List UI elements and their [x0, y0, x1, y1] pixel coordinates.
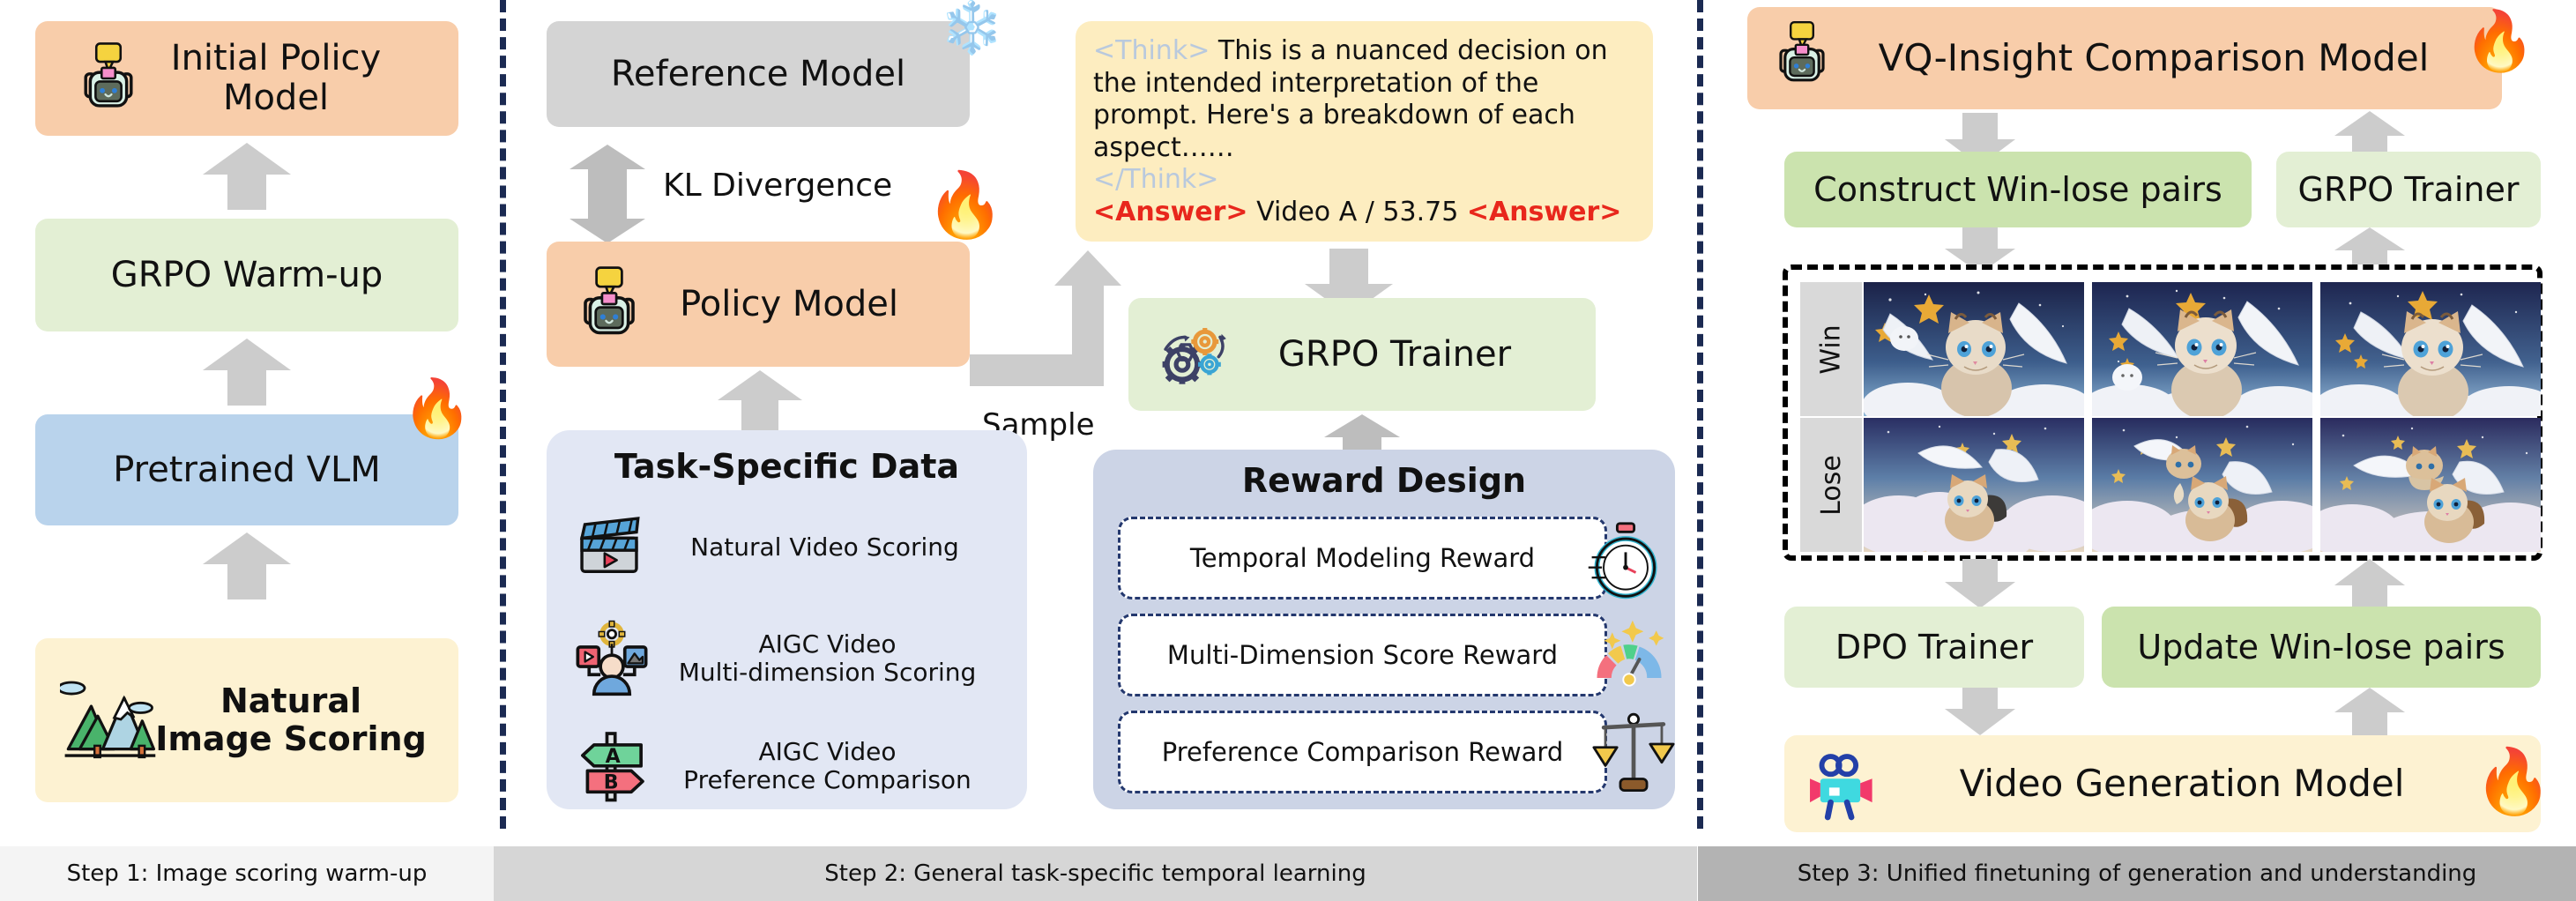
row-label-win: Win	[1800, 282, 1862, 416]
row-label-lose: Lose	[1800, 418, 1862, 552]
arrow-up-1b	[203, 339, 291, 406]
arrow-down-3d	[1938, 688, 2022, 737]
reward-label: Multi-Dimension Score Reward	[1167, 641, 1558, 669]
arrow-double-kl	[570, 145, 645, 243]
think-close-tag: </Think>	[1093, 164, 1635, 197]
arrow-up-1c	[203, 532, 291, 599]
arrow-up-3d	[2327, 688, 2412, 737]
win-image-1[interactable]	[2092, 282, 2312, 416]
person-media-icon	[571, 616, 652, 701]
arrow-down-3c	[1938, 559, 2022, 610]
panel-step-2: Reference Model ❄️ KL Divergence	[511, 0, 1697, 901]
task-data-item-0[interactable]: Natural Video Scoring	[555, 499, 1018, 596]
gears-icon	[1155, 317, 1231, 402]
panel-task-specific-data: Task-Specific Data	[547, 430, 1027, 809]
reward-item-0[interactable]: Temporal Modeling Reward	[1118, 517, 1607, 599]
signpost-ab-icon: A B	[571, 724, 652, 808]
win-image-0[interactable]	[1864, 282, 2084, 416]
task-data-item-1[interactable]: AIGC Video Multi-dimension Scoring	[555, 603, 1018, 714]
task-data-title: Task-Specific Data	[547, 448, 1027, 486]
step-2-caption-bar: Step 2: General task-specific temporal l…	[494, 846, 1697, 901]
box-label: VQ-Insight Comparison Model	[1879, 37, 2430, 78]
panel-reward-design: Reward Design Temporal Modeling Reward	[1093, 450, 1675, 809]
task-data-item-2[interactable]: A B AIGC Video Preference Comparison	[555, 711, 1018, 822]
svg-text:A: A	[606, 746, 621, 768]
box-label: GRPO Trainer	[2298, 171, 2520, 209]
reward-label: Temporal Modeling Reward	[1190, 544, 1535, 572]
lose-image-1[interactable]	[2092, 418, 2312, 552]
fire-icon: 🔥	[402, 381, 473, 437]
box-label: Pretrained VLM	[113, 450, 381, 490]
box-reference-model[interactable]: Reference Model	[547, 21, 970, 127]
box-pretrained-vlm[interactable]: Pretrained VLM	[35, 414, 458, 525]
gauge-icon	[1587, 615, 1671, 704]
scales-icon	[1592, 707, 1675, 799]
reward-label: Preference Comparison Reward	[1162, 738, 1564, 766]
box-label: Video Generation Model	[1960, 763, 2405, 804]
box-label: DPO Trainer	[1835, 629, 2033, 666]
video-camera-icon	[1805, 748, 1880, 830]
box-dpo-trainer[interactable]: DPO Trainer	[1784, 607, 2084, 688]
answer-close-tag: <Answer>	[1467, 197, 1622, 227]
clapperboard-icon	[571, 508, 647, 587]
reward-item-1[interactable]: Multi-Dimension Score Reward	[1118, 614, 1607, 696]
box-label: Reference Model	[611, 55, 905, 94]
task-data-label: Natural Video Scoring	[631, 533, 1018, 562]
think-open-tag: <Think>	[1093, 35, 1210, 66]
box-label: GRPO Warm-up	[111, 256, 383, 295]
task-data-label: AIGC Video Preference Comparison	[637, 738, 1018, 794]
step-1-caption-bar: Step 1: Image scoring warm-up	[0, 846, 494, 901]
reward-item-2[interactable]: Preference Comparison Reward	[1118, 711, 1607, 793]
panel-divider-1	[500, 0, 506, 829]
box-label: Construct Win-lose pairs	[1813, 171, 2222, 209]
box-vq-insight-comparison-model[interactable]: VQ-Insight Comparison Model 🔥	[1747, 7, 2502, 109]
win-image-2[interactable]	[2320, 282, 2541, 416]
landscape-icon	[60, 670, 159, 777]
box-label: Initial Policy Model	[171, 39, 381, 118]
box-grpo-trainer[interactable]: GRPO Trainer	[1128, 298, 1596, 411]
think-answer-note: <Think> This is a nuanced decision on th…	[1076, 21, 1653, 242]
diagram-root: Initial Policy Model GRPO Warm-up Pretra…	[0, 0, 2576, 901]
answer-line: <Answer> Video A / 53.75 <Answer>	[1093, 197, 1635, 229]
fire-icon: 🔥	[926, 173, 1005, 236]
box-construct-win-lose-pairs[interactable]: Construct Win-lose pairs	[1784, 152, 2252, 227]
box-label: Update Win-lose pairs	[2137, 629, 2505, 666]
step-1-caption: Step 1: Image scoring warm-up	[67, 860, 428, 887]
box-label: Policy Model	[680, 285, 898, 324]
task-data-label: AIGC Video Multi-dimension Scoring	[637, 630, 1018, 687]
lose-image-0[interactable]	[1864, 418, 2084, 552]
snowflake-icon: ❄️	[940, 2, 1003, 53]
step-3-caption-bar: Step 3: Unified finetuning of generation…	[1698, 846, 2576, 901]
lose-image-2[interactable]	[2320, 418, 2541, 552]
kl-divergence-label: KL Divergence	[663, 168, 892, 204]
arrow-up-1a	[203, 143, 291, 210]
panel-divider-2	[1697, 0, 1703, 829]
robot-icon	[71, 41, 146, 125]
box-natural-image-scoring[interactable]: Natural Image Scoring	[35, 638, 458, 802]
box-update-win-lose-pairs[interactable]: Update Win-lose pairs	[2102, 607, 2541, 688]
robot-icon	[1767, 19, 1837, 98]
stopwatch-icon	[1583, 518, 1668, 607]
fire-icon: 🔥	[2463, 12, 2535, 71]
box-label: Natural Image Scoring	[155, 682, 427, 757]
win-lose-pairs-grid: Win Lose	[1783, 264, 2542, 561]
panel-step-3: VQ-Insight Comparison Model 🔥 Construct …	[1710, 0, 2576, 901]
robot-icon	[570, 264, 649, 353]
panel-step-1: Initial Policy Model GRPO Warm-up Pretra…	[0, 0, 494, 901]
box-policy-model[interactable]: Policy Model	[547, 242, 970, 367]
svg-text:B: B	[604, 772, 619, 794]
fire-icon: 🔥	[2474, 749, 2553, 813]
box-label: GRPO Trainer	[1278, 335, 1511, 375]
answer-value: Video A / 53.75	[1256, 197, 1458, 227]
think-line: <Think> This is a nuanced decision on th…	[1093, 35, 1635, 164]
arrow-sample-elbow	[970, 249, 1146, 398]
box-initial-policy-model[interactable]: Initial Policy Model	[35, 21, 458, 136]
answer-open-tag: <Answer>	[1093, 197, 1248, 227]
reward-design-title: Reward Design	[1093, 462, 1675, 500]
arrow-up-3c	[2327, 559, 2412, 610]
box-video-generation-model[interactable]: Video Generation Model 🔥	[1784, 735, 2541, 832]
box-grpo-warmup[interactable]: GRPO Warm-up	[35, 219, 458, 331]
box-grpo-trainer-step3[interactable]: GRPO Trainer	[2276, 152, 2541, 227]
step-3-caption: Step 3: Unified finetuning of generation…	[1798, 860, 2477, 887]
step-2-caption: Step 2: General task-specific temporal l…	[824, 860, 1366, 887]
